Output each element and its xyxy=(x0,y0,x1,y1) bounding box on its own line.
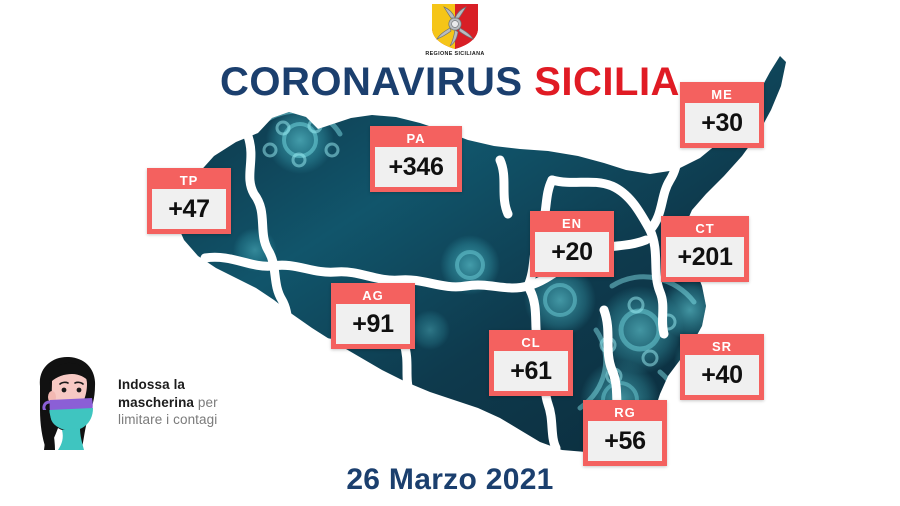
title-sicilia: SICILIA xyxy=(534,60,680,104)
province-badge-siracusa: SR+40 xyxy=(680,334,764,400)
province-badge-trapani: TP+47 xyxy=(147,168,231,234)
trinacria-shield-icon xyxy=(429,2,481,50)
province-new-cases: +201 xyxy=(666,237,744,277)
province-code: EN xyxy=(535,215,609,232)
coronavirus-sicilia-poster: REGIONE SICILIANA CORONAVIRUS SICILIA TP… xyxy=(0,0,900,506)
date-label: 26 Marzo 2021 xyxy=(0,463,900,497)
province-code: RG xyxy=(588,404,662,421)
province-code: CL xyxy=(494,334,568,351)
province-code: TP xyxy=(152,172,226,189)
province-badge-palermo: PA+346 xyxy=(370,126,462,192)
province-code: CT xyxy=(666,220,744,237)
mask-notice-bold-line2: mascherina xyxy=(118,395,194,410)
province-new-cases: +20 xyxy=(535,232,609,272)
province-badge-agrigento: AG+91 xyxy=(331,283,415,349)
regione-siciliana-crest: REGIONE SICILIANA xyxy=(420,2,490,58)
province-badge-catania: CT+201 xyxy=(661,216,749,282)
mask-notice-bold-line1: Indossa la xyxy=(118,377,185,392)
province-code: AG xyxy=(336,287,410,304)
province-new-cases: +40 xyxy=(685,355,759,395)
province-new-cases: +61 xyxy=(494,351,568,391)
mask-notice: Indossa la mascherina per limitare i con… xyxy=(22,352,272,452)
province-new-cases: +47 xyxy=(152,189,226,229)
crest-caption: REGIONE SICILIANA xyxy=(420,51,490,57)
province-badge-enna: EN+20 xyxy=(530,211,614,277)
woman-wearing-mask-icon xyxy=(22,352,112,452)
title-coronavirus: CORONAVIRUS xyxy=(220,60,523,104)
province-code: ME xyxy=(685,86,759,103)
province-new-cases: +30 xyxy=(685,103,759,143)
province-code: PA xyxy=(375,130,457,147)
province-new-cases: +56 xyxy=(588,421,662,461)
province-new-cases: +91 xyxy=(336,304,410,344)
province-badge-messina: ME+30 xyxy=(680,82,764,148)
page-title: CORONAVIRUS SICILIA xyxy=(0,62,900,102)
province-new-cases: +346 xyxy=(375,147,457,187)
mask-notice-line3: limitare i contagi xyxy=(118,412,217,427)
mask-notice-tail: per xyxy=(194,395,218,410)
province-code: SR xyxy=(685,338,759,355)
province-badge-caltanissetta: CL+61 xyxy=(489,330,573,396)
mask-notice-text: Indossa la mascherina per limitare i con… xyxy=(118,376,278,429)
province-badge-ragusa: RG+56 xyxy=(583,400,667,466)
